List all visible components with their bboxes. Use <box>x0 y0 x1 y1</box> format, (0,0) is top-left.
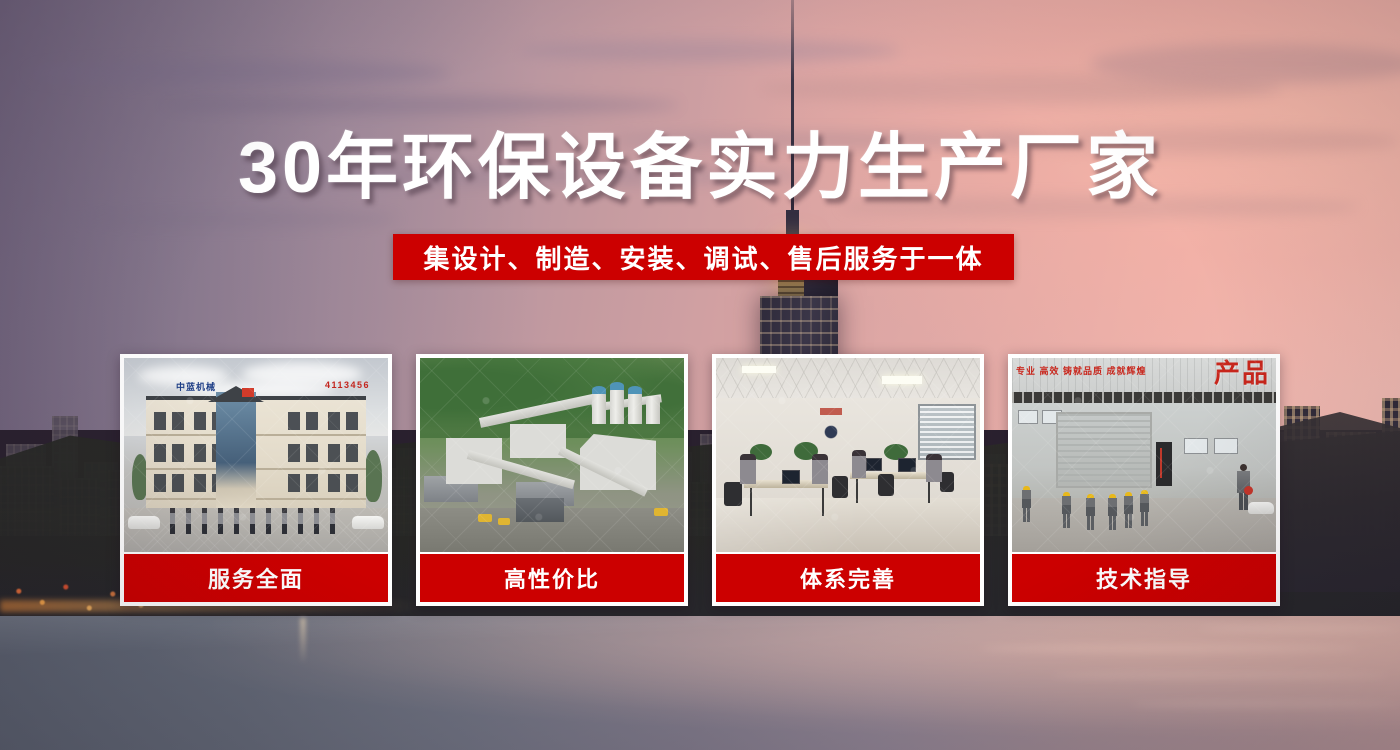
company-headquarters-photo: 中蓝机械 4113456 <box>124 358 388 552</box>
hero-subtitle-text: 集设计、制造、安装、调试、售后服务于一体 <box>423 239 983 276</box>
factory-wall-headline: 产品 <box>1214 360 1270 386</box>
card-caption-system: 体系完善 <box>716 554 980 602</box>
feature-card-row: 中蓝机械 4113456 服务全面 <box>120 354 1280 606</box>
card-caption-guidance: 技术指导 <box>1012 554 1276 602</box>
feature-card-value[interactable]: 高性价比 <box>416 354 688 606</box>
card-caption-service: 服务全面 <box>124 554 388 602</box>
aerial-plant-photo <box>420 358 684 552</box>
water-sheen <box>0 616 1400 750</box>
hero-banner-stage: 30年环保设备实力生产厂家 集设计、制造、安装、调试、售后服务于一体 <box>0 0 1400 750</box>
feature-card-service[interactable]: 中蓝机械 4113456 服务全面 <box>120 354 392 606</box>
building-sign-text: 中蓝机械 <box>176 380 216 393</box>
hero-headline: 30年环保设备实力生产厂家 <box>0 132 1400 204</box>
feature-card-guidance[interactable]: 专业 高效 铸就品质 成就辉煌 产品 <box>1008 354 1280 606</box>
factory-wall-slogan: 专业 高效 铸就品质 成就辉煌 <box>1016 366 1147 377</box>
office-interior-photo <box>716 358 980 552</box>
workshop-workers-photo: 专业 高效 铸就品质 成就辉煌 产品 <box>1012 358 1276 552</box>
building-phone-text: 4113456 <box>325 380 370 390</box>
card-caption-value: 高性价比 <box>420 554 684 602</box>
feature-card-system[interactable]: 体系完善 <box>712 354 984 606</box>
water-reflection <box>300 618 306 664</box>
hero-subtitle-banner: 集设计、制造、安装、调试、售后服务于一体 <box>393 234 1014 280</box>
